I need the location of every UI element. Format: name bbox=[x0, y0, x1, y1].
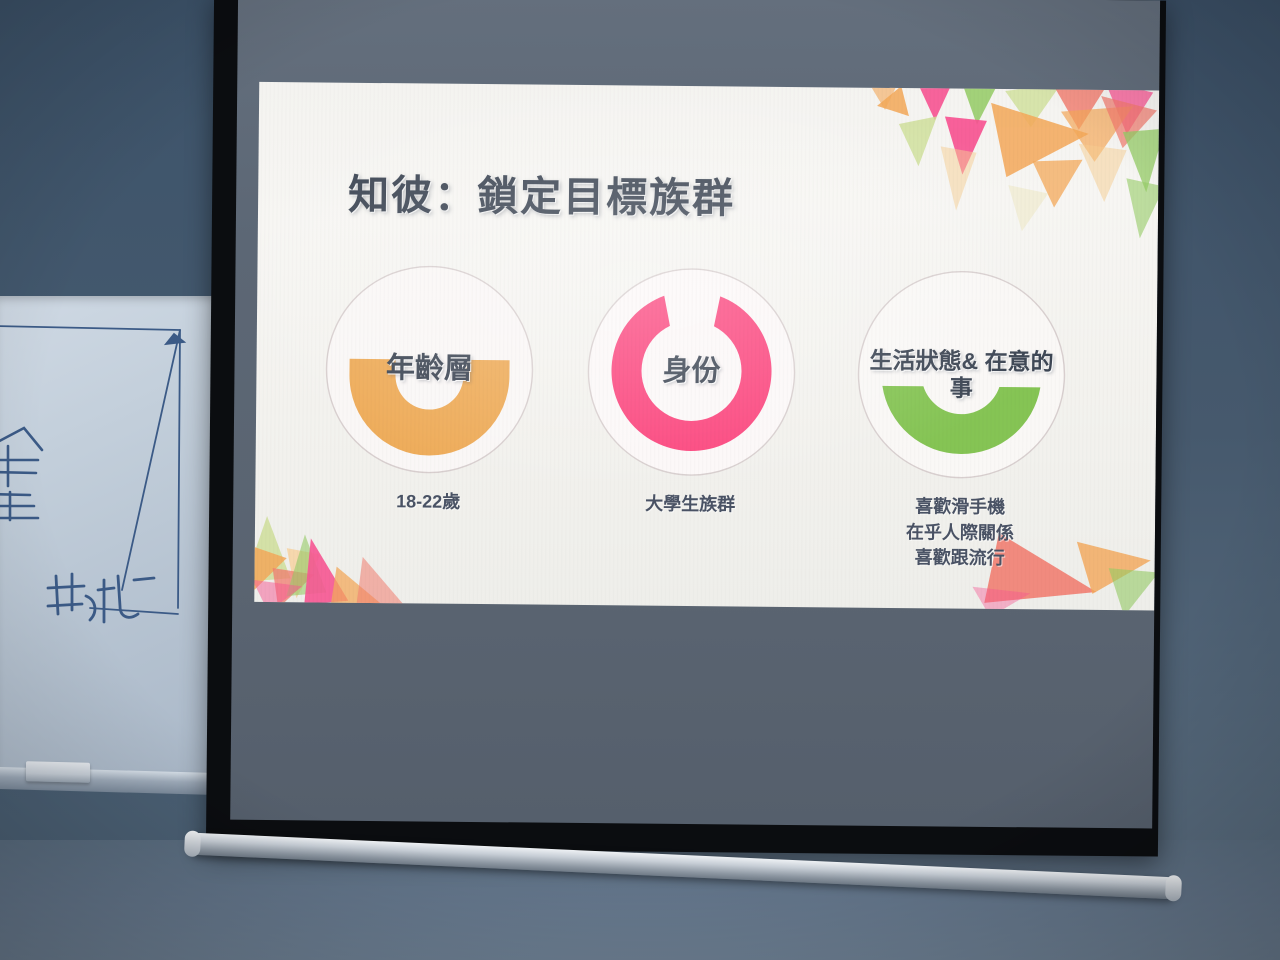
whiteboard bbox=[0, 296, 216, 778]
caption-line: 喜歡跟流行 bbox=[845, 545, 1075, 573]
wall-right bbox=[1160, 0, 1280, 960]
projector-screen-frame: 知彼：鎖定目標族群 年齡層 18-22歲 bbox=[206, 0, 1166, 857]
slide-title: 知彼：鎖定目標族群 bbox=[348, 161, 736, 225]
caption-identity: 大學生族群 bbox=[575, 491, 805, 519]
presentation-slide: 知彼：鎖定目標族群 年齡層 18-22歲 bbox=[254, 82, 1159, 611]
card-identity: 身份 大學生族群 bbox=[575, 265, 807, 519]
ring-label-lifestyle: 生活狀態& 在意的事 bbox=[855, 347, 1068, 402]
caption-line: 18-22歲 bbox=[313, 488, 543, 516]
caption-line: 喜歡滑手機 bbox=[845, 494, 1075, 522]
ring-label-identity: 身份 bbox=[585, 354, 797, 390]
ring-label-line-1: 生活狀態& bbox=[869, 347, 978, 374]
ring-lifestyle: 生活狀態& 在意的事 bbox=[854, 268, 1068, 482]
ring-identity: 身份 bbox=[584, 265, 798, 479]
card-age-group: 年齡層 18-22歲 bbox=[313, 262, 545, 516]
caption-line: 大學生族群 bbox=[575, 491, 805, 519]
ring-label-age-group: 年齡層 bbox=[323, 352, 535, 388]
card-lifestyle: 生活狀態& 在意的事 喜歡滑手機 在乎人際關係 喜歡跟流行 bbox=[845, 268, 1078, 573]
projector-screen-surface: 知彼：鎖定目標族群 年齡層 18-22歲 bbox=[230, 0, 1160, 828]
caption-lifestyle: 喜歡滑手機 在乎人際關係 喜歡跟流行 bbox=[845, 494, 1076, 573]
whiteboard-eraser bbox=[26, 761, 90, 783]
caption-line: 在乎人際關係 bbox=[845, 519, 1075, 547]
caption-age-group: 18-22歲 bbox=[313, 488, 543, 516]
triangle-decoration-top-right bbox=[863, 82, 1159, 283]
whiteboard-sketch-lines bbox=[0, 308, 214, 638]
ring-age-group: 年齡層 bbox=[322, 263, 536, 477]
card-row: 年齡層 18-22歲 身份 bbox=[254, 262, 1157, 601]
photo-scene: 知彼：鎖定目標族群 年齡層 18-22歲 bbox=[0, 0, 1280, 960]
